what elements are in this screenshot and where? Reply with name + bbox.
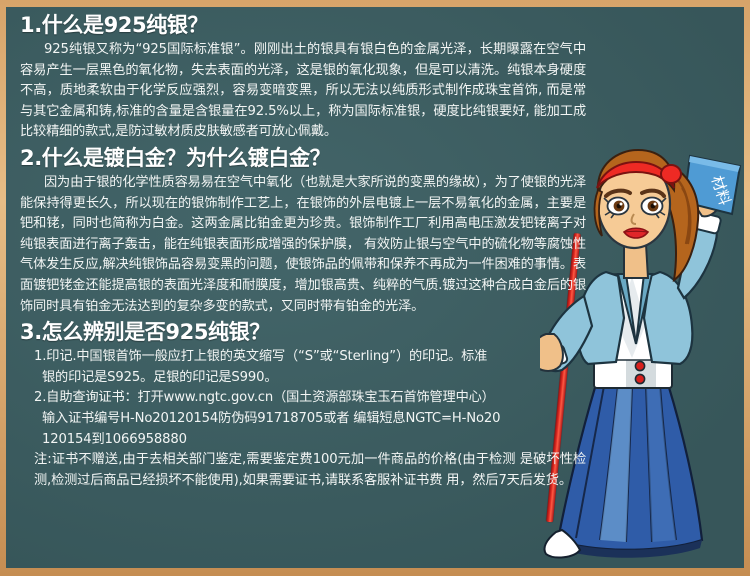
list-item-line: 1.印记.中国银首饰一般应打上银的英文缩写（“S”或“Sterling”）的印记… bbox=[34, 347, 586, 368]
section-1: 1.什么是925纯银？ 925纯银又称为“925国际标准银”。刚刚出土的银具有银… bbox=[20, 13, 586, 143]
chalkboard: 材料 bbox=[6, 7, 744, 568]
blouse-shape bbox=[602, 274, 666, 360]
note-line: 用，然后7天后发货。 bbox=[446, 473, 572, 488]
shoe-shape bbox=[544, 530, 580, 557]
section-1-title: 1.什么是925纯银？ bbox=[20, 13, 586, 38]
section-3: 3.怎么辨别是否925纯银？ 1.印记.中国银首饰一般应打上银的英文缩写（“S”… bbox=[20, 320, 586, 491]
right-hand-shape bbox=[693, 181, 722, 216]
book-label: 材料 bbox=[708, 173, 734, 207]
section-2-paragraph: 因为由于银的化学性质容易易在空气中氧化（也就是大家所说的变黑的缘故），为了使银的… bbox=[20, 173, 586, 317]
section-2-title: 2.什么是镀白金？为什么镀白金？ bbox=[20, 146, 586, 171]
section-3-body: 1.印记.中国银首饰一般应打上银的英文缩写（“S”或“Sterling”）的印记… bbox=[20, 347, 586, 491]
section-2-body: 因为由于银的化学性质容易易在空气中氧化（也就是大家所说的变黑的缘故），为了使银的… bbox=[20, 173, 586, 317]
section-2: 2.什么是镀白金？为什么镀白金？ 因为由于银的化学性质容易易在空气中氧化（也就是… bbox=[20, 146, 586, 317]
note-line: 注:证书不赠送,由于去相关部门鉴定,需要鉴定费100元加一件商品的价格(由于检测 bbox=[34, 452, 516, 467]
list-item-line: 120154到1066958880 bbox=[34, 430, 586, 451]
list-item-line: 银的印记是S925。足银的印记是S990。 bbox=[34, 368, 586, 389]
poster-frame: 材料 bbox=[0, 0, 750, 576]
list-item-line: 输入证书编号H-No20120154防伪码91718705或者 编辑短息NGTC… bbox=[34, 409, 586, 430]
list-item: 2.自助查询证书：打开www.ngtc.gov.cn（国土资源部珠宝玉石首饰管理… bbox=[20, 388, 586, 450]
face-shape bbox=[595, 150, 681, 248]
list-item: 1.印记.中国银首饰一般应打上银的英文缩写（“S”或“Sterling”）的印记… bbox=[20, 347, 586, 388]
book-shape: 材料 bbox=[684, 156, 740, 214]
article-content: 1.什么是925纯银？ 925纯银又称为“925国际标准银”。刚刚出土的银具有银… bbox=[6, 7, 586, 491]
hair-shape bbox=[664, 164, 698, 280]
section-3-title: 3.怎么辨别是否925纯银？ bbox=[20, 320, 586, 345]
list-item-line: 2.自助查询证书：打开www.ngtc.gov.cn（国土资源部珠宝玉石首饰管理… bbox=[34, 388, 586, 409]
neck-shape bbox=[624, 244, 648, 278]
belt-shape bbox=[594, 356, 672, 388]
section-1-paragraph: 925纯银又称为“925国际标准银”。刚刚出土的银具有银白色的金属光泽，长期曝露… bbox=[20, 40, 586, 143]
section-1-body: 925纯银又称为“925国际标准银”。刚刚出土的银具有银白色的金属光泽，长期曝露… bbox=[20, 40, 586, 143]
certificate-note: 注:证书不赠送,由于去相关部门鉴定,需要鉴定费100元加一件商品的价格(由于检测… bbox=[20, 450, 586, 491]
